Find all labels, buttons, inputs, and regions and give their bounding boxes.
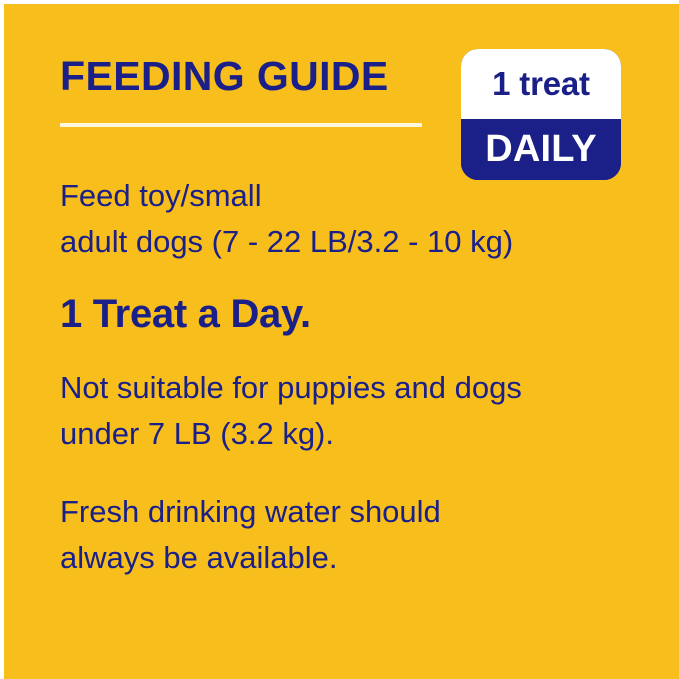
feeding-instructions: Feed toy/small adult dogs (7 - 22 LB/3.2… — [60, 173, 660, 581]
badge-top-section: 1 treat — [461, 49, 621, 119]
badge-treat-count-label: 1 treat — [492, 65, 590, 103]
page-title: FEEDING GUIDE — [60, 52, 389, 100]
instruction-not-suitable: Not suitable for puppies and dogs under … — [60, 365, 660, 457]
instruction-fresh-water: Fresh drinking water should always be av… — [60, 489, 660, 581]
feeding-guide-panel: FEEDING GUIDE 1 treat DAILY Feed toy/sma… — [4, 4, 679, 679]
badge-bottom-section: DAILY — [461, 119, 621, 180]
badge-frequency-label: DAILY — [485, 128, 597, 171]
daily-dosage-badge: 1 treat DAILY — [461, 49, 621, 180]
instruction-dog-size: Feed toy/small adult dogs (7 - 22 LB/3.2… — [60, 173, 660, 265]
instruction-headline: 1 Treat a Day. — [60, 291, 660, 337]
title-divider — [60, 123, 422, 127]
